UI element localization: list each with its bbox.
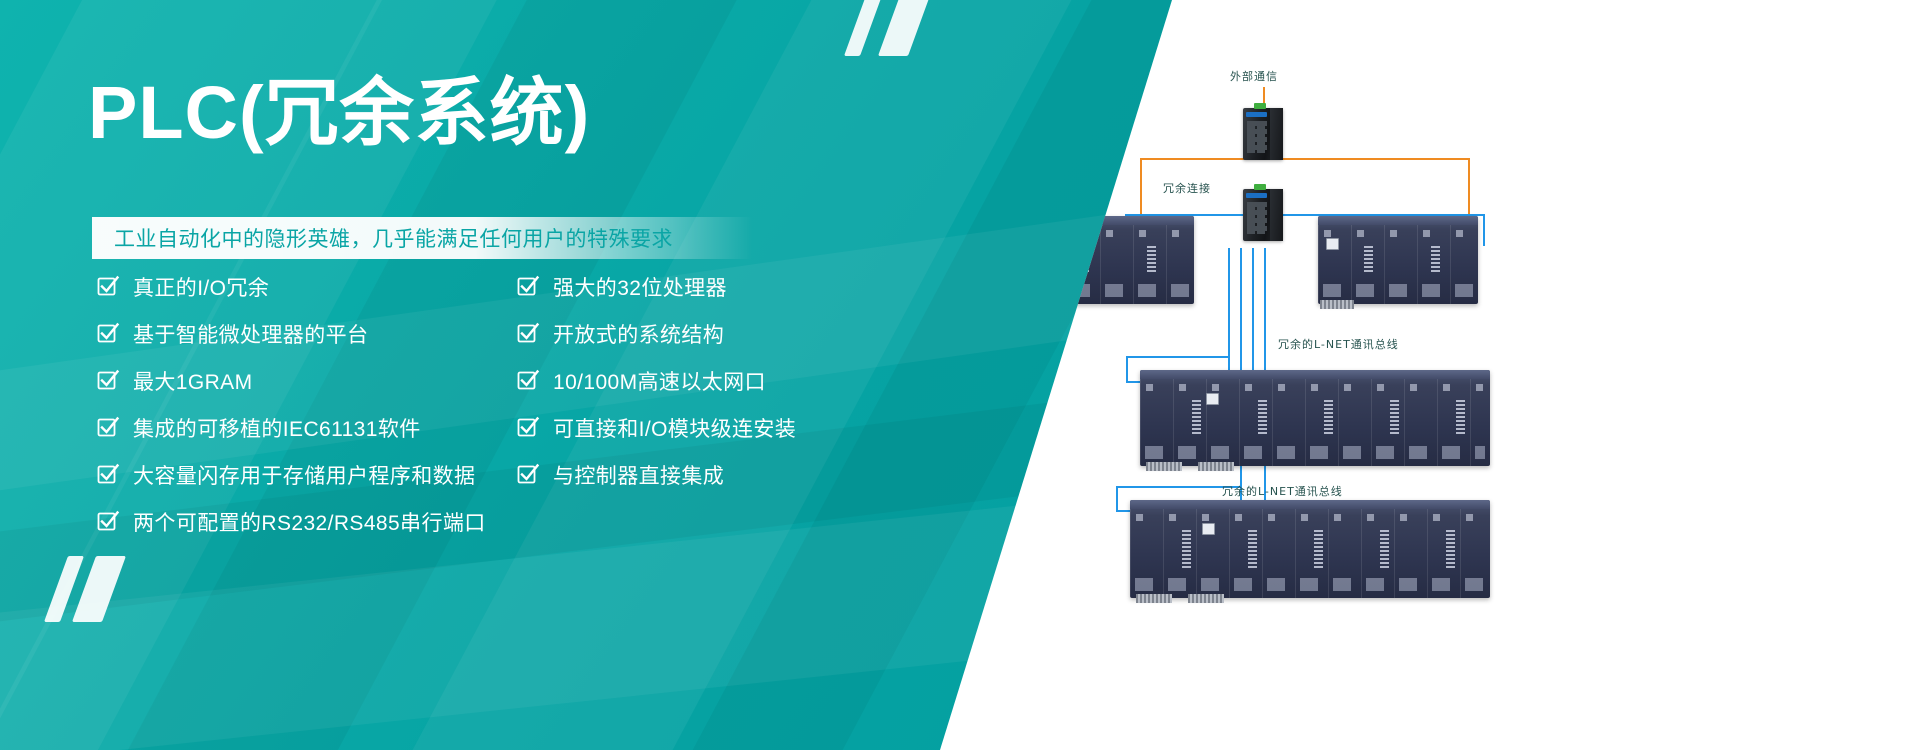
feature-label: 基于智能微处理器的平台 [133, 319, 368, 349]
feature-item: 大容量闪存用于存储用户程序和数据 [96, 450, 486, 497]
rack-connector [1320, 300, 1354, 309]
switch-antenna-icon [1254, 103, 1266, 109]
checkbox-checked-icon [96, 274, 120, 298]
switch-label-strip [1246, 112, 1267, 117]
rack-display [1324, 400, 1333, 436]
rack-display [1431, 246, 1440, 274]
io-rack [1140, 370, 1490, 466]
feature-item: 10/100M高速以太网口 [516, 356, 796, 403]
wire-ethernet [1116, 486, 1118, 512]
subtitle-text: 工业自动化中的隐形英雄，几乎能满足任何用户的特殊要求 [114, 223, 673, 253]
rack-display [1314, 530, 1323, 568]
wire-ethernet [1126, 356, 1128, 382]
feature-item: 与控制器直接集成 [516, 450, 796, 497]
checkbox-checked-icon [516, 274, 540, 298]
checkbox-checked-icon [96, 368, 120, 392]
feature-label: 大容量闪存用于存储用户程序和数据 [133, 460, 475, 490]
wire-ethernet [1483, 214, 1485, 246]
rack-connector [1188, 594, 1224, 603]
rack-top-rail [1130, 500, 1490, 509]
feature-item: 最大1GRAM [96, 356, 486, 403]
switch-ports [1247, 202, 1267, 234]
feature-label: 强大的32位处理器 [553, 272, 727, 302]
switch-side [1270, 108, 1283, 160]
checkbox-checked-icon [96, 415, 120, 439]
ethernet-switch [1243, 108, 1283, 160]
rack-display [1364, 246, 1373, 274]
plc-rack [1318, 216, 1478, 304]
rack-display [1192, 400, 1201, 436]
feature-item: 集成的可移植的IEC61131软件 [96, 403, 486, 450]
rack-display [1456, 400, 1465, 436]
checkbox-checked-icon [516, 415, 540, 439]
label-redundant-lnet-bus-2: 冗余的L-NET通讯总线 [1222, 483, 1343, 499]
wire-external [1140, 158, 1470, 160]
io-rack [1130, 500, 1490, 598]
rack-footer-labels [1145, 446, 1485, 459]
feature-label: 两个可配置的RS232/RS485串行端口 [133, 507, 486, 537]
feature-item: 两个可配置的RS232/RS485串行端口 [96, 497, 486, 544]
rack-display [1147, 246, 1156, 274]
checkbox-checked-icon [96, 462, 120, 486]
rack-top-rail [1318, 216, 1478, 225]
rack-display [1380, 530, 1389, 568]
rack-display [1258, 400, 1267, 436]
rj45-port [1202, 523, 1215, 535]
rack-display [1182, 530, 1191, 568]
checkbox-checked-icon [516, 368, 540, 392]
label-external-communication: 外部通信 [1230, 68, 1278, 84]
feature-label: 最大1GRAM [133, 366, 252, 396]
rj45-port [1206, 393, 1219, 405]
feature-list-right: 强大的32位处理器 开放式的系统结构 10/100M高速以太网口 可直接和I/O… [516, 262, 796, 497]
wire-ethernet [1228, 248, 1230, 381]
feature-item: 基于智能微处理器的平台 [96, 309, 486, 356]
feature-label: 集成的可移植的IEC61131软件 [133, 413, 421, 443]
rack-connector [1146, 462, 1182, 471]
subtitle-bar: 工业自动化中的隐形英雄，几乎能满足任何用户的特殊要求 [92, 217, 752, 259]
rack-top-rail [1140, 370, 1490, 379]
wire-ethernet [1126, 356, 1230, 358]
feature-label: 与控制器直接集成 [553, 460, 724, 490]
rack-display [1390, 400, 1399, 436]
switch-label-strip [1246, 193, 1267, 198]
feature-label: 开放式的系统结构 [553, 319, 724, 349]
switch-antenna-icon [1254, 184, 1266, 190]
rack-connector [1136, 594, 1172, 603]
label-redundant-link: 冗余连接 [1163, 180, 1211, 196]
rack-connector [1198, 462, 1234, 471]
rack-footer-labels [1135, 578, 1485, 591]
feature-label: 10/100M高速以太网口 [553, 366, 766, 396]
rack-led-row [1146, 384, 1484, 391]
checkbox-checked-icon [516, 321, 540, 345]
feature-label: 可直接和I/O模块级连安装 [553, 413, 796, 443]
switch-side [1270, 189, 1283, 241]
feature-item: 开放式的系统结构 [516, 309, 796, 356]
checkbox-checked-icon [96, 321, 120, 345]
rack-display [1446, 530, 1455, 568]
rack-led-row [1324, 230, 1472, 237]
switch-ports [1247, 121, 1267, 153]
feature-list-left: 真正的I/O冗余 基于智能微处理器的平台 最大1GRAM 集成的可移植的IEC6… [96, 262, 486, 544]
feature-label: 真正的I/O冗余 [133, 272, 269, 302]
checkbox-checked-icon [96, 509, 120, 533]
checkbox-checked-icon [516, 462, 540, 486]
feature-item: 可直接和I/O模块级连安装 [516, 403, 796, 450]
feature-item: 强大的32位处理器 [516, 262, 796, 309]
label-redundant-lnet-bus-1: 冗余的L-NET通讯总线 [1278, 336, 1399, 352]
page-title: PLC(冗余系统) [88, 72, 590, 153]
rack-display [1248, 530, 1257, 568]
banner-content: PLC(冗余系统) 工业自动化中的隐形英雄，几乎能满足任何用户的特殊要求 真正的… [0, 0, 1100, 750]
ethernet-switch [1243, 189, 1283, 241]
rack-led-row [1136, 514, 1484, 521]
feature-item: 真正的I/O冗余 [96, 262, 486, 309]
rack-footer-labels [1323, 284, 1473, 297]
rj45-port [1326, 238, 1339, 250]
wire-ethernet [1252, 248, 1254, 381]
